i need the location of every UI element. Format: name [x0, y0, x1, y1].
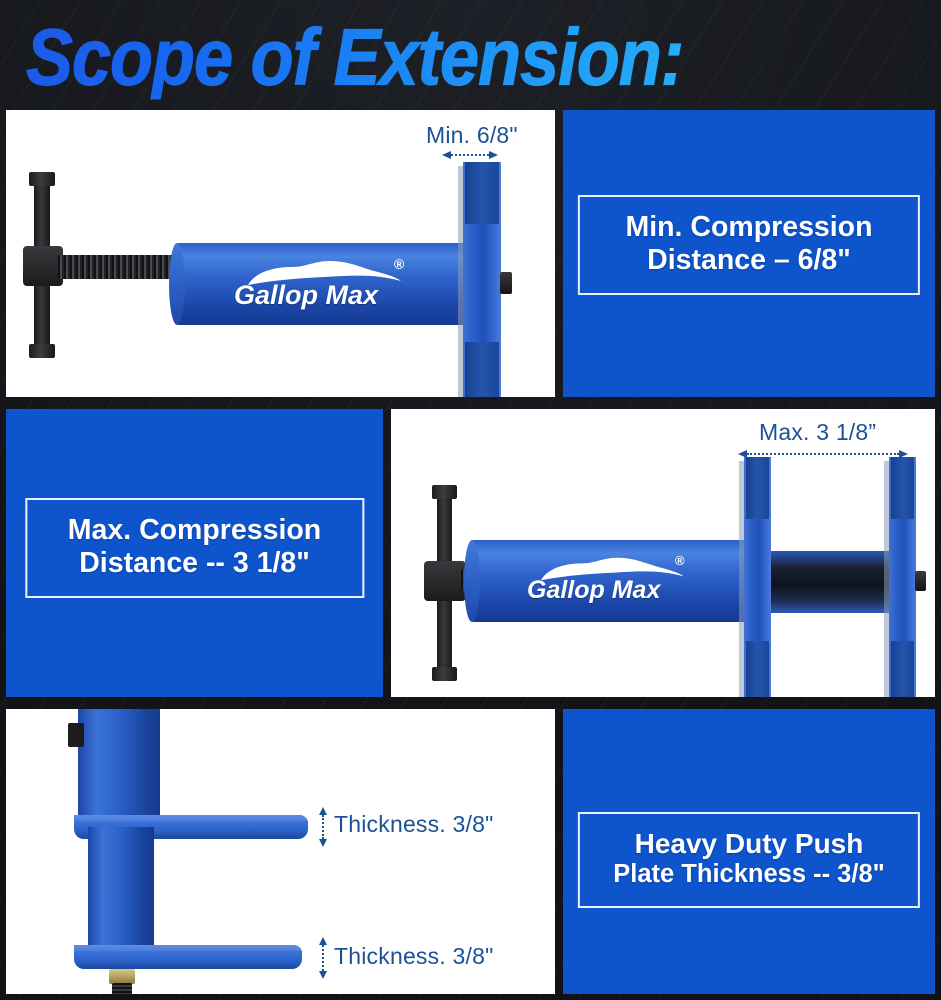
cylinder-lower	[88, 827, 154, 945]
cylinder-end-cap	[169, 243, 185, 325]
plate-nub	[500, 272, 512, 294]
caption-line-2: Distance -- 3 1/8"	[37, 547, 352, 580]
page-title: Scope of Extension:	[26, 16, 683, 100]
panel-tool-min-compression: Min. 6/8" Gallop Max	[6, 110, 555, 397]
caption-line-2: Plate Thickness -- 3/8"	[590, 860, 908, 890]
plate-band-bottom-inner	[746, 641, 769, 697]
panel-label-min-compression: Min. Compression Distance – 6/8"	[563, 110, 935, 397]
plate-band-bottom-outer	[891, 641, 914, 697]
arrowhead-up-icon	[319, 937, 327, 945]
threaded-tip	[112, 983, 132, 994]
plate-nub	[915, 571, 926, 591]
threaded-screw	[58, 255, 176, 279]
panel-label-thickness: Heavy Duty Push Plate Thickness -- 3/8"	[563, 709, 935, 994]
cylinder-end-cap	[464, 540, 480, 622]
tool-illustration-min: Gallop Max ®	[6, 110, 555, 397]
dim-line	[322, 945, 324, 971]
t-handle-cap-top	[432, 485, 457, 499]
arrowhead-down-icon	[319, 839, 327, 847]
caption-box-min: Min. Compression Distance – 6/8"	[578, 195, 920, 295]
tool-illustration-max: Gallop Max ®	[391, 409, 935, 697]
plate-band-top	[465, 162, 499, 224]
caption-line-2: Distance – 6/8"	[590, 244, 908, 277]
t-handle-cap-top	[29, 172, 55, 186]
plate-band-top-outer	[891, 457, 914, 519]
dim-arrow-thickness-bottom	[318, 937, 327, 979]
arrowhead-up-icon	[319, 807, 327, 815]
panel-label-max-compression: Max. Compression Distance -- 3 1/8"	[6, 409, 383, 697]
page-background: Scope of Extension: Min. 6/8"	[0, 0, 941, 1000]
plate-band-top-inner	[746, 457, 769, 519]
cylinder-side-tab	[68, 723, 84, 747]
caption-box-thickness: Heavy Duty Push Plate Thickness -- 3/8"	[578, 812, 920, 908]
panel-tool-thickness: Thickness. 3/8" Thickness. 3/8"	[6, 709, 555, 994]
t-handle-hex-block	[23, 246, 63, 286]
dim-line	[322, 815, 324, 839]
caption-line-1: Max. Compression	[37, 514, 352, 547]
dim-label-thickness-bottom: Thickness. 3/8"	[334, 943, 493, 970]
brass-fitting	[109, 969, 135, 984]
caption-line-1: Min. Compression	[590, 211, 908, 244]
cylinder-upper	[78, 709, 160, 815]
t-handle-hex-block	[424, 561, 466, 601]
page-header: Scope of Extension:	[0, 0, 941, 104]
cylinder-body	[469, 540, 749, 622]
t-handle-cap-bottom	[29, 344, 55, 358]
t-handle-cap-bottom	[432, 667, 457, 681]
plate-band-bottom	[465, 342, 499, 397]
push-plate-bottom	[74, 951, 302, 969]
arrowhead-down-icon	[319, 971, 327, 979]
caption-line-1: Heavy Duty Push	[590, 828, 908, 860]
cylinder-body	[174, 243, 468, 325]
dim-label-thickness-top: Thickness. 3/8"	[334, 811, 493, 838]
dim-arrow-thickness-top	[318, 807, 327, 847]
panel-tool-max-compression: Max. 3 1/8” Gallop Max ®	[391, 409, 935, 697]
caption-box-max: Max. Compression Distance -- 3 1/8"	[25, 498, 364, 598]
